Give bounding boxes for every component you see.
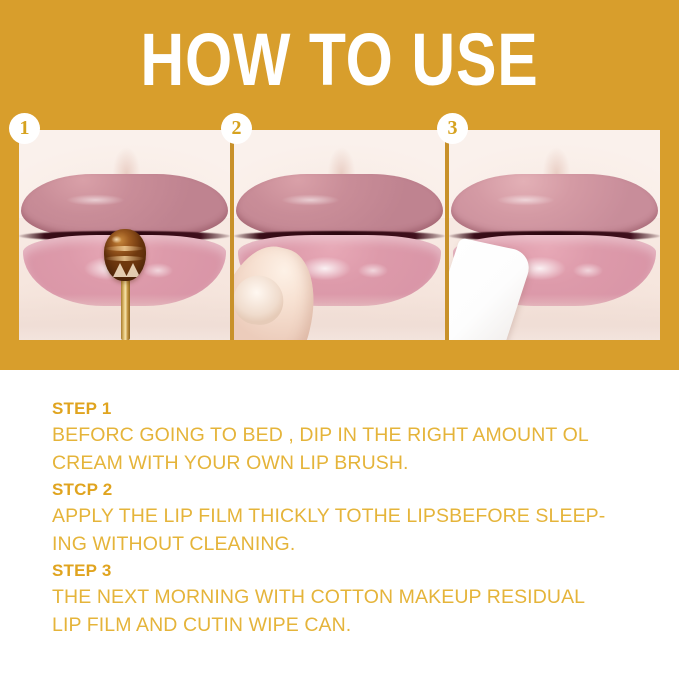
step-image-gallery: [19, 130, 660, 340]
applicator-ridge-1: [105, 246, 144, 251]
applicator-notch-left: [113, 263, 127, 277]
step-2-heading: STCP 2: [52, 477, 652, 502]
instructions-list: STEP 1 BEFORC GOING TO BED , DIP IN THE …: [52, 396, 652, 639]
page-title: HOW TO USE: [61, 22, 618, 98]
applicator-notch-right: [126, 263, 140, 277]
step-badge-2: 2: [221, 113, 252, 144]
step-badge-3: 3: [437, 113, 468, 144]
applicator-ridge-2: [105, 256, 144, 261]
fingernail: [234, 272, 286, 326]
upper-lip-sheen-3: [484, 192, 567, 208]
upper-lip-sheen-1: [54, 192, 137, 208]
step-badge-1: 1: [9, 113, 40, 144]
step-3-body: THE NEXT MORNING WITH COTTON MAKEUP RESI…: [52, 583, 652, 639]
step-image-2: [234, 130, 445, 340]
how-to-use-poster: HOW TO USE: [0, 0, 679, 679]
step-image-3: [449, 130, 660, 340]
step-1-heading: STEP 1: [52, 396, 652, 421]
upper-lip-2: [236, 174, 443, 237]
step-3-heading: STEP 3: [52, 558, 652, 583]
step-1-body: BEFORC GOING TO BED , DIP IN THE RIGHT A…: [52, 421, 652, 477]
applicator-head-icon: [104, 229, 146, 281]
upper-lip-1: [21, 174, 228, 237]
upper-lip-3: [451, 174, 658, 237]
applicator-stem-icon: [121, 273, 130, 340]
applicator-gloss: [109, 234, 123, 245]
upper-lip-sheen-2: [269, 192, 352, 208]
step-image-1: [19, 130, 230, 340]
step-2-body: APPLY THE LIP FILM THICKLY TOTHE LIPSBEF…: [52, 502, 652, 558]
